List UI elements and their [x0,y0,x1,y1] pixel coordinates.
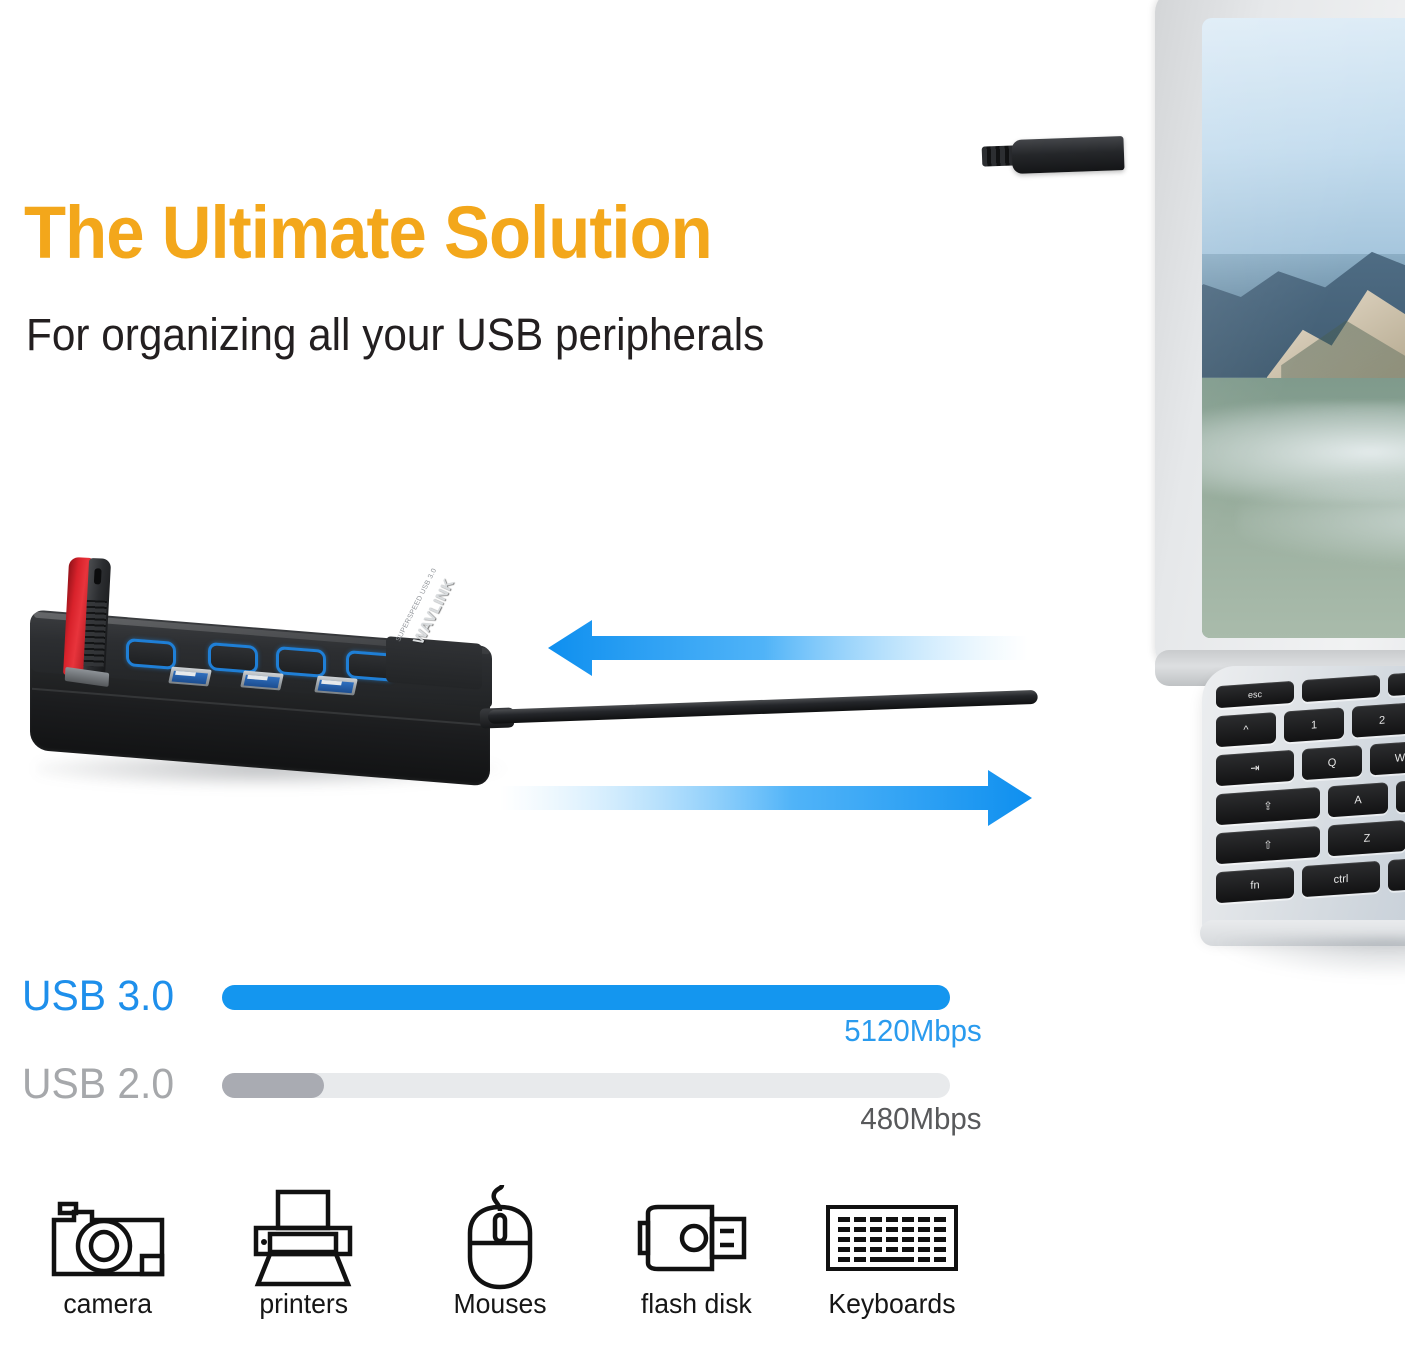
key-tab[interactable]: ⇥ [1216,750,1294,786]
speed-row-usb3-value: 5120Mbps [844,1015,982,1046]
speed-row-usb3: USB 3.0 5120Mbps [22,975,982,1063]
usb-speed-comparison-chart: USB 3.0 5120Mbps USB 2.0 480Mbps [22,975,982,1155]
key-f1[interactable] [1302,675,1380,702]
key-caps-lock[interactable]: ⇪ [1216,787,1320,825]
device-item-printers: printers [206,1186,402,1346]
data-flow-arrow-left [548,616,1028,680]
flash-drive-lanyard-slot [94,568,102,584]
brand-plate [386,636,482,690]
speed-row-usb2-fill [222,1073,324,1098]
laptop-screen [1202,18,1405,638]
product-infographic: The Ultimate Solution For organizing all… [0,0,1405,1346]
key-q[interactable]: Q [1302,745,1362,780]
device-label-keyboards: Keyboards [828,1290,955,1318]
device-label-mouses: Mouses [453,1290,546,1318]
speed-row-usb2-track [222,1073,950,1098]
key-z[interactable]: Z [1328,820,1405,856]
mouse-icon [452,1186,548,1290]
device-item-camera: camera [10,1186,206,1346]
usb-a-connector [1011,136,1124,174]
laptop-drop-shadow [1216,938,1405,978]
key-esc[interactable]: esc [1216,681,1294,708]
key-tilde[interactable]: ^ [1216,712,1276,747]
device-item-keyboards: Keyboards [794,1186,990,1346]
laptop-keyboard: esc ^ 1 2 3 4 ⇥ Q W E R ⇪ A [1216,662,1405,876]
power-switch-1[interactable] [126,638,176,670]
speed-row-usb3-track [222,985,950,1010]
supported-devices-row: camera printers [10,1186,990,1346]
speed-row-usb3-label: USB 3.0 [22,975,174,1018]
page-subtitle: For organizing all your USB peripherals [26,312,764,357]
key-a[interactable]: A [1328,782,1388,817]
key-s[interactable]: S [1396,777,1405,812]
device-label-printers: printers [260,1290,349,1318]
device-item-flash-disk: flash disk [598,1186,794,1346]
arrow-right-icon [500,766,1032,830]
key-w[interactable]: W [1370,740,1405,775]
printer-icon [244,1186,364,1290]
usb-port-4[interactable] [314,676,358,696]
device-item-mouses: Mouses [402,1186,598,1346]
key-alt[interactable]: alt [1388,855,1405,891]
flash-drive-inserted [61,557,119,682]
speed-row-usb2: USB 2.0 480Mbps [22,1063,982,1151]
device-label-flash-disk: flash disk [641,1290,752,1318]
speed-row-usb2-label: USB 2.0 [22,1063,174,1106]
flash-disk-icon [632,1186,760,1290]
data-flow-arrow-right [500,766,1032,830]
key-ctrl[interactable]: ctrl [1302,861,1380,897]
page-title: The Ultimate Solution [24,196,712,270]
usb-cable [488,690,1038,724]
key-fn[interactable]: fn [1216,867,1294,903]
speed-row-usb2-value: 480Mbps [861,1103,982,1134]
screen-glare [1202,18,1405,638]
laptop-illustration: esc ^ 1 2 3 4 ⇥ Q W E R ⇪ A [1120,0,1405,1000]
power-switch-3[interactable] [276,646,326,678]
key-1[interactable]: 1 [1284,707,1344,742]
flash-drive-grip-ribs [84,600,107,667]
key-shift[interactable]: ⇧ [1216,826,1320,864]
arrow-left-icon [548,616,1028,680]
usb-port-3[interactable] [240,671,284,691]
camera-icon [44,1186,172,1290]
speed-row-usb3-fill [222,985,950,1010]
power-switch-2[interactable] [208,642,258,674]
key-2[interactable]: 2 [1352,703,1405,738]
usb-hub-product: WAVLINK SUPERSPEED USB 3.0 [18,540,558,840]
device-label-camera: camera [64,1290,153,1318]
usb-port-2[interactable] [168,667,212,687]
keyboard-icon [824,1186,960,1290]
